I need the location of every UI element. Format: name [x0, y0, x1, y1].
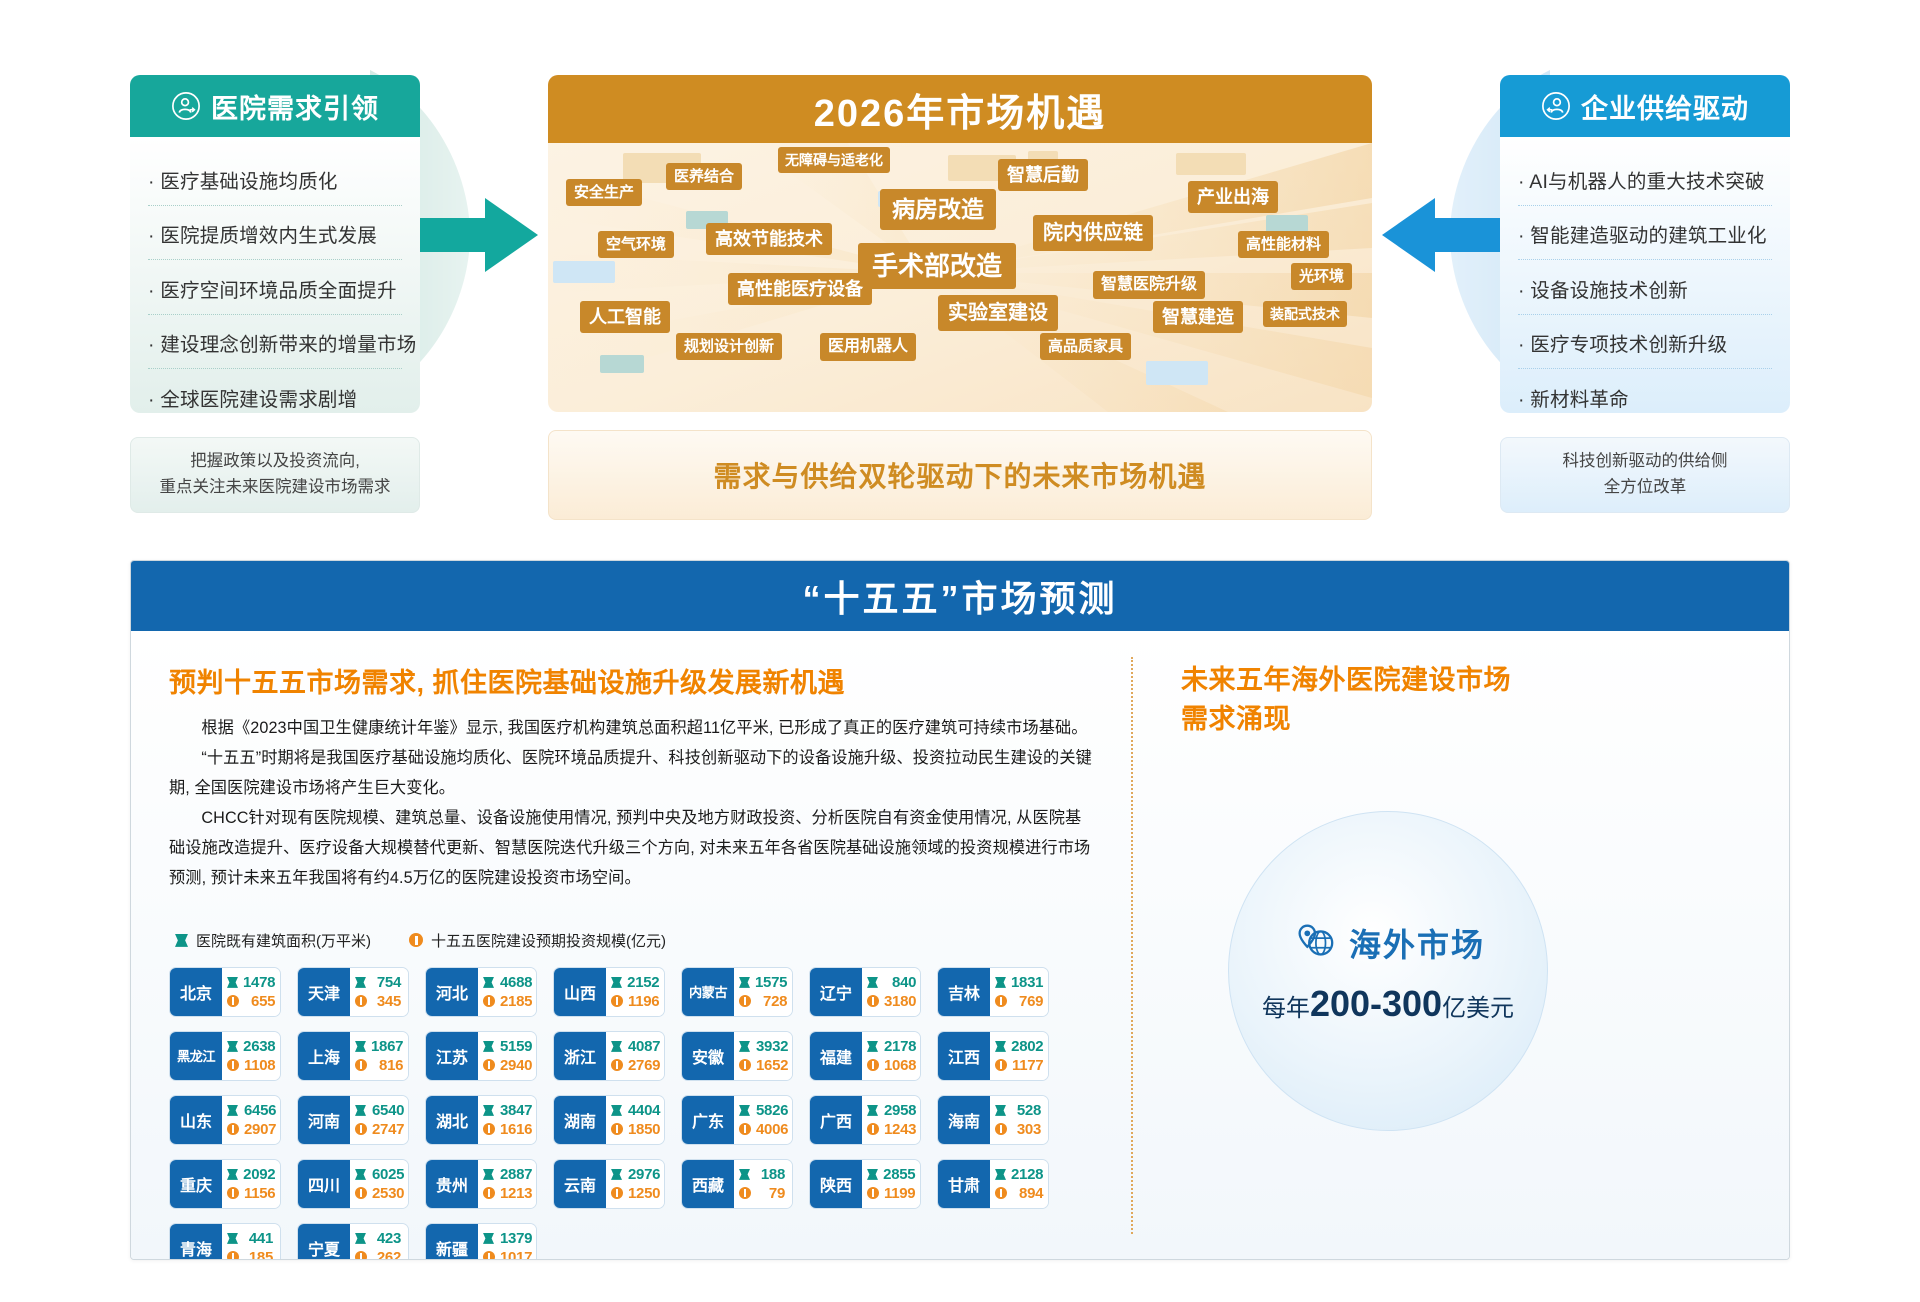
province-investment-value: 1177 [1012, 1057, 1043, 1074]
province-values: 2128894 [990, 1160, 1049, 1208]
forecast-left-column: 预判十五五市场需求, 抓住医院基础设施升级发展新机遇 根据《2023中国卫生健康… [131, 631, 1131, 1260]
province-investment-row: 894 [995, 1185, 1043, 1202]
square-marker-icon [739, 1169, 750, 1180]
province-investment-value: 1199 [884, 1185, 915, 1202]
circle-marker-icon [483, 995, 495, 1007]
province-investment-row: 303 [995, 1121, 1041, 1138]
province-investment-row: 1243 [867, 1121, 916, 1138]
circle-marker-icon [867, 1187, 879, 1199]
province-area-row: 441 [227, 1230, 273, 1247]
province-investment-row: 1196 [611, 993, 659, 1010]
enterprise-supply-card-header: 企业供给驱动 [1500, 75, 1790, 137]
province-investment-value: 262 [372, 1249, 401, 1260]
province-name: 北京 [170, 968, 222, 1016]
province-card[interactable]: 浙江40872769 [553, 1031, 665, 1081]
keyword-tag[interactable]: 高性能材料 [1238, 231, 1329, 258]
province-name: 海南 [938, 1096, 990, 1144]
demand-footnote-line2: 重点关注未来医院建设市场需求 [160, 475, 391, 501]
circle-marker-icon [867, 1123, 879, 1135]
circle-marker-icon [483, 1059, 495, 1071]
circle-marker-icon [227, 1059, 239, 1071]
province-values: 28021177 [990, 1032, 1049, 1080]
province-area-value: 5826 [755, 1102, 788, 1119]
forecast-section-heading: 预判十五五市场需求, 抓住医院基础设施升级发展新机遇 [169, 661, 1093, 700]
province-investment-value: 1652 [756, 1057, 788, 1074]
province-card[interactable]: 海南528303 [937, 1095, 1049, 1145]
province-values: 26381108 [222, 1032, 281, 1080]
circle-marker-icon [995, 1123, 1007, 1135]
province-card[interactable]: 陕西28551199 [809, 1159, 921, 1209]
province-area-value: 1867 [371, 1038, 403, 1055]
decorative-block [1176, 153, 1246, 175]
province-values: 60252530 [350, 1160, 409, 1208]
province-name: 湖北 [426, 1096, 478, 1144]
province-values: 46882185 [478, 968, 537, 1016]
circle-marker-icon [355, 995, 367, 1007]
province-card[interactable]: 江西28021177 [937, 1031, 1049, 1081]
province-area-row: 3847 [483, 1102, 532, 1119]
keyword-tag[interactable]: 人工智能 [580, 301, 670, 333]
province-name: 青海 [170, 1224, 222, 1260]
province-values: 29581243 [862, 1096, 921, 1144]
province-area-value: 3847 [499, 1102, 532, 1119]
province-area-row: 4087 [611, 1038, 660, 1055]
keyword-tag[interactable]: 手术部改造 [858, 243, 1016, 289]
province-name: 福建 [810, 1032, 862, 1080]
province-area-row: 2638 [227, 1038, 275, 1055]
circle-marker-icon [611, 1187, 623, 1199]
province-investment-value: 345 [372, 993, 401, 1010]
forecast-paragraph-3: CHCC针对现有医院规模、建筑总量、设备设施使用情况, 预判中央及地方财政投资、… [169, 804, 1093, 894]
market-opportunity-title: 2026年市场机遇 [548, 75, 1372, 143]
province-area-row: 188 [739, 1166, 785, 1183]
province-area-value: 188 [755, 1166, 785, 1183]
province-investment-value: 816 [372, 1057, 403, 1074]
province-investment-row: 79 [739, 1185, 785, 1202]
square-marker-icon [227, 1041, 238, 1052]
province-area-value: 441 [243, 1230, 273, 1247]
province-investment-value: 769 [1012, 993, 1043, 1010]
supply-item-3: · 设备设施技术创新 [1518, 259, 1772, 314]
province-area-row: 840 [867, 974, 916, 991]
keyword-tag[interactable]: 高效节能技术 [706, 223, 832, 255]
province-investment-row: 655 [227, 993, 275, 1010]
province-area-row: 528 [995, 1102, 1041, 1119]
province-name: 河南 [298, 1096, 350, 1144]
province-investment-row: 769 [995, 993, 1043, 1010]
market-opportunity-footer-text: 需求与供给双轮驱动下的未来市场机遇 [713, 455, 1206, 495]
province-values: 29761250 [606, 1160, 665, 1208]
province-card[interactable]: 甘肃2128894 [937, 1159, 1049, 1209]
demand-item-3: · 医疗空间环境品质全面提升 [148, 259, 402, 314]
province-values: 20921156 [222, 1160, 281, 1208]
square-marker-icon [483, 1041, 494, 1052]
supply-item-1: · AI与机器人的重大技术突破 [1518, 151, 1772, 205]
keyword-tag[interactable]: 高品质家具 [1040, 333, 1131, 360]
province-investment-value: 1108 [244, 1057, 275, 1074]
keyword-tag[interactable]: 安全生产 [566, 179, 642, 206]
province-name: 江苏 [426, 1032, 478, 1080]
province-name: 黑龙江 [170, 1032, 222, 1080]
keyword-tag[interactable]: 空气环境 [598, 231, 674, 258]
province-card[interactable]: 河北46882185 [425, 967, 537, 1017]
circle-marker-icon [739, 1123, 751, 1135]
province-card[interactable]: 新疆13791017 [425, 1223, 537, 1260]
province-card[interactable]: 宁夏423262 [297, 1223, 409, 1260]
circle-marker-icon [409, 933, 423, 947]
keyword-tag[interactable]: 医用机器人 [820, 333, 916, 361]
province-values: 58264006 [734, 1096, 793, 1144]
keyword-tag[interactable]: 病房改造 [880, 189, 996, 230]
province-card[interactable]: 四川60252530 [297, 1159, 409, 1209]
province-values: 1478655 [222, 968, 281, 1016]
square-marker-icon [995, 1041, 1006, 1052]
province-investment-row: 2907 [227, 1121, 276, 1138]
province-investment-value: 1017 [500, 1249, 532, 1260]
province-values: 1831769 [990, 968, 1049, 1016]
overseas-heading: 未来五年海外医院建设市场 需求涌现 [1181, 661, 1759, 739]
province-investment-row: 262 [355, 1249, 401, 1260]
user-demand-icon [171, 91, 201, 121]
province-card[interactable]: 重庆20921156 [169, 1159, 281, 1209]
overseas-market-amount: 每年200-300亿美元 [1262, 983, 1514, 1025]
province-area-row: 2887 [483, 1166, 532, 1183]
infographic-page: 医院需求引领 · 医疗基础设施均质化 · 医院提质增效内生式发展 · 医疗空间环… [0, 0, 1920, 1302]
overseas-amount-prefix: 每年 [1262, 995, 1310, 1022]
overseas-circle-wrap: 海外市场 每年200-300亿美元 [1173, 801, 1703, 1201]
square-marker-icon [227, 1169, 238, 1180]
keyword-tag[interactable]: 院内供应链 [1033, 215, 1153, 251]
province-investment-value: 185 [244, 1249, 273, 1260]
province-investment-value: 2747 [372, 1121, 404, 1138]
province-area-row: 2152 [611, 974, 659, 991]
province-investment-value: 1850 [628, 1121, 660, 1138]
circle-marker-icon [611, 1123, 623, 1135]
province-investment-value: 1196 [628, 993, 659, 1010]
province-investment-value: 3180 [884, 993, 916, 1010]
province-area-value: 2887 [499, 1166, 532, 1183]
square-marker-icon [995, 977, 1006, 988]
keyword-tag[interactable]: 装配式技术 [1263, 301, 1347, 327]
forecast-paragraph-1: 根据《2023中国卫生健康统计年鉴》显示, 我国医疗机构建筑总面积超11亿平米,… [169, 714, 1093, 744]
province-investment-value: 1156 [244, 1185, 275, 1202]
province-name: 云南 [554, 1160, 606, 1208]
province-area-row: 6025 [355, 1166, 404, 1183]
keyword-tag[interactable]: 实验室建设 [938, 295, 1058, 331]
province-name: 浙江 [554, 1032, 606, 1080]
province-card[interactable]: 福建21781068 [809, 1031, 921, 1081]
province-card[interactable]: 安徽39321652 [681, 1031, 793, 1081]
circle-marker-icon [995, 995, 1007, 1007]
province-area-value: 2178 [883, 1038, 916, 1055]
province-name: 广东 [682, 1096, 734, 1144]
province-investment-row: 1652 [739, 1057, 788, 1074]
square-marker-icon [227, 977, 238, 988]
supply-item-4: · 医疗专项技术创新升级 [1518, 314, 1772, 369]
province-card[interactable]: 北京1478655 [169, 967, 281, 1017]
province-investment-row: 816 [355, 1057, 403, 1074]
province-card[interactable]: 青海441185 [169, 1223, 281, 1260]
province-investment-row: 728 [739, 993, 787, 1010]
circle-marker-icon [355, 1059, 367, 1071]
hospital-demand-card: 医院需求引领 · 医疗基础设施均质化 · 医院提质增效内生式发展 · 医疗空间环… [130, 75, 420, 413]
province-area-value: 4688 [499, 974, 532, 991]
overseas-amount-value: 200-300 [1310, 983, 1442, 1024]
circle-marker-icon [995, 1187, 1007, 1199]
province-area-row: 3932 [739, 1038, 788, 1055]
circle-marker-icon [227, 1123, 239, 1135]
forecast-paragraph-2: “十五五”时期将是我国医疗基础设施均质化、医院环境品质提升、科技创新驱动下的设备… [169, 744, 1093, 804]
province-area-row: 423 [355, 1230, 401, 1247]
square-marker-icon [483, 1169, 494, 1180]
province-card[interactable]: 贵州28871213 [425, 1159, 537, 1209]
province-investment-row: 1213 [483, 1185, 532, 1202]
province-card[interactable]: 湖北38471616 [425, 1095, 537, 1145]
enterprise-supply-card: 企业供给驱动 · AI与机器人的重大技术突破 · 智能建造驱动的建筑工业化 · … [1500, 75, 1790, 413]
province-investment-value: 655 [244, 993, 275, 1010]
circle-marker-icon [227, 1251, 239, 1260]
square-marker-icon [175, 934, 188, 947]
province-area-row: 754 [355, 974, 401, 991]
circle-marker-icon [483, 1251, 495, 1260]
keyword-tag[interactable]: 医养结合 [666, 163, 742, 190]
circle-marker-icon [355, 1187, 367, 1199]
province-investment-row: 1250 [611, 1185, 660, 1202]
province-area-row: 5159 [483, 1038, 532, 1055]
province-area-row: 5826 [739, 1102, 788, 1119]
province-values: 44041850 [606, 1096, 665, 1144]
province-investment-row: 1017 [483, 1249, 532, 1260]
top-section: 医院需求引领 · 医疗基础设施均质化 · 医院提质增效内生式发展 · 医疗空间环… [0, 0, 1920, 535]
province-investment-value: 1243 [884, 1121, 916, 1138]
square-marker-icon [611, 977, 622, 988]
province-card[interactable]: 河南65402747 [297, 1095, 409, 1145]
province-name: 宁夏 [298, 1224, 350, 1260]
square-marker-icon [611, 1041, 622, 1052]
forecast-right-column: 未来五年海外医院建设市场 需求涌现 [1133, 631, 1789, 1260]
legend-label-investment: 十五五医院建设预期投资规模(亿元) [431, 930, 666, 951]
province-investment-value: 4006 [756, 1121, 788, 1138]
keyword-tag[interactable]: 高性能医疗设备 [728, 273, 872, 305]
decorative-block [600, 355, 644, 373]
province-values: 28871213 [478, 1160, 537, 1208]
province-card[interactable]: 湖南44041850 [553, 1095, 665, 1145]
circle-marker-icon [867, 1059, 879, 1071]
province-values: 51592940 [478, 1032, 537, 1080]
square-marker-icon [483, 1105, 494, 1116]
province-name: 重庆 [170, 1160, 222, 1208]
province-investment-row: 1177 [995, 1057, 1043, 1074]
province-area-row: 4404 [611, 1102, 660, 1119]
province-investment-row: 1156 [227, 1185, 275, 1202]
legend-label-area: 医院既有建筑面积(万平米) [196, 930, 371, 951]
province-card[interactable]: 广西29581243 [809, 1095, 921, 1145]
province-investment-row: 1850 [611, 1121, 660, 1138]
province-area-value: 528 [1011, 1102, 1041, 1119]
legend-item-investment: 十五五医院建设预期投资规模(亿元) [409, 930, 666, 951]
province-area-row: 2178 [867, 1038, 916, 1055]
province-area-value: 6540 [371, 1102, 404, 1119]
square-marker-icon [611, 1169, 622, 1180]
province-name: 上海 [298, 1032, 350, 1080]
overseas-market-circle: 海外市场 每年200-300亿美元 [1228, 811, 1548, 1131]
province-investment-value: 2185 [500, 993, 532, 1010]
province-name: 甘肃 [938, 1160, 990, 1208]
square-marker-icon [739, 977, 750, 988]
province-area-row: 4688 [483, 974, 532, 991]
supply-footnote-line1: 科技创新驱动的供给侧 [1563, 449, 1728, 475]
province-area-value: 6025 [371, 1166, 404, 1183]
province-area-value: 4404 [627, 1102, 660, 1119]
circle-marker-icon [483, 1123, 495, 1135]
province-values: 18879 [734, 1160, 792, 1208]
province-area-value: 1831 [1011, 974, 1043, 991]
square-marker-icon [867, 1105, 878, 1116]
province-investment-value: 2769 [628, 1057, 660, 1074]
market-opportunity-panel: 2026年市场机遇 [548, 75, 1372, 412]
overseas-market-label: 海外市场 [1349, 920, 1485, 966]
province-card[interactable]: 上海1867816 [297, 1031, 409, 1081]
square-marker-icon [867, 977, 878, 988]
province-name: 新疆 [426, 1224, 478, 1260]
market-forecast-section: “十五五”市场预测 预判十五五市场需求, 抓住医院基础设施升级发展新机遇 根据《… [130, 560, 1790, 1260]
keyword-tag[interactable]: 产业出海 [1188, 181, 1278, 213]
market-forecast-body: 预判十五五市场需求, 抓住医院基础设施升级发展新机遇 根据《2023中国卫生健康… [131, 631, 1789, 1260]
province-values: 40872769 [606, 1032, 665, 1080]
province-card[interactable]: 天津754345 [297, 967, 409, 1017]
province-card[interactable]: 广东58264006 [681, 1095, 793, 1145]
province-area-value: 2958 [883, 1102, 916, 1119]
enterprise-supply-card-body: · AI与机器人的重大技术突破 · 智能建造驱动的建筑工业化 · 设备设施技术创… [1500, 137, 1790, 413]
province-name: 山东 [170, 1096, 222, 1144]
circle-marker-icon [739, 1059, 751, 1071]
province-area-row: 1831 [995, 974, 1043, 991]
province-area-value: 4087 [627, 1038, 660, 1055]
province-area-value: 3932 [755, 1038, 788, 1055]
province-investment-row: 2530 [355, 1185, 404, 1202]
decorative-block [1146, 361, 1208, 385]
province-investment-row: 2940 [483, 1057, 532, 1074]
province-investment-value: 2907 [244, 1121, 276, 1138]
circle-marker-icon [611, 1059, 623, 1071]
province-investment-row: 1199 [867, 1185, 915, 1202]
square-marker-icon [355, 1233, 366, 1244]
province-area-value: 1575 [755, 974, 787, 991]
square-marker-icon [995, 1105, 1006, 1116]
demand-item-1: · 医疗基础设施均质化 [148, 151, 402, 205]
province-name: 内蒙古 [682, 968, 734, 1016]
province-area-value: 1478 [243, 974, 275, 991]
province-values: 1867816 [350, 1032, 409, 1080]
keyword-tag[interactable]: 规划设计创新 [676, 333, 782, 360]
square-marker-icon [227, 1233, 238, 1244]
hospital-demand-card-title: 医院需求引领 [211, 87, 379, 126]
keyword-tag[interactable]: 智慧建造 [1153, 301, 1243, 333]
circle-marker-icon [355, 1123, 367, 1135]
overseas-heading-line1: 未来五年海外医院建设市场 [1181, 661, 1759, 700]
province-area-value: 1379 [499, 1230, 532, 1247]
province-values: 21781068 [862, 1032, 921, 1080]
province-card[interactable]: 黑龙江26381108 [169, 1031, 281, 1081]
province-investment-row: 185 [227, 1249, 273, 1260]
keyword-tag[interactable]: 光环境 [1291, 263, 1352, 290]
square-marker-icon [739, 1105, 750, 1116]
province-card[interactable]: 西藏18879 [681, 1159, 793, 1209]
circle-marker-icon [483, 1187, 495, 1199]
province-investment-value: 1213 [500, 1185, 532, 1202]
square-marker-icon [355, 1105, 366, 1116]
province-card[interactable]: 云南29761250 [553, 1159, 665, 1209]
province-values: 13791017 [478, 1224, 537, 1260]
province-card[interactable]: 吉林1831769 [937, 967, 1049, 1017]
province-area-value: 840 [883, 974, 916, 991]
circle-marker-icon [867, 995, 879, 1007]
province-area-row: 1478 [227, 974, 275, 991]
circle-marker-icon [739, 1187, 751, 1199]
keyword-tag[interactable]: 无障碍与适老化 [778, 147, 890, 173]
hospital-demand-card-body: · 医疗基础设施均质化 · 医院提质增效内生式发展 · 医疗空间环境品质全面提升… [130, 137, 420, 413]
market-opportunity-footer: 需求与供给双轮驱动下的未来市场机遇 [548, 430, 1372, 520]
province-area-value: 2976 [627, 1166, 660, 1183]
province-values: 38471616 [478, 1096, 537, 1144]
province-investment-row: 4006 [739, 1121, 788, 1138]
province-values: 8403180 [862, 968, 921, 1016]
province-area-row: 2976 [611, 1166, 660, 1183]
province-name: 湖南 [554, 1096, 606, 1144]
demand-footnote: 把握政策以及投资流向, 重点关注未来医院建设市场需求 [130, 437, 420, 513]
province-card[interactable]: 辽宁8403180 [809, 967, 921, 1017]
province-area-row: 2802 [995, 1038, 1043, 1055]
province-area-value: 2802 [1011, 1038, 1043, 1055]
province-area-value: 6456 [243, 1102, 276, 1119]
province-values: 1575728 [734, 968, 793, 1016]
supply-footnote-line2: 全方位改革 [1604, 475, 1687, 501]
province-area-value: 754 [371, 974, 401, 991]
province-investment-row: 2747 [355, 1121, 404, 1138]
province-area-value: 2638 [243, 1038, 275, 1055]
circle-marker-icon [227, 1187, 239, 1199]
province-values: 39321652 [734, 1032, 793, 1080]
province-investment-row: 2769 [611, 1057, 660, 1074]
province-name: 吉林 [938, 968, 990, 1016]
keyword-tag[interactable]: 智慧医院升级 [1093, 271, 1205, 299]
province-card[interactable]: 山西21521196 [553, 967, 665, 1017]
province-investment-value: 728 [756, 993, 787, 1010]
province-investment-value: 1250 [628, 1185, 660, 1202]
square-marker-icon [355, 977, 366, 988]
province-area-row: 2092 [227, 1166, 275, 1183]
keyword-tag[interactable]: 智慧后勤 [998, 159, 1088, 191]
square-marker-icon [227, 1105, 238, 1116]
province-name: 辽宁 [810, 968, 862, 1016]
province-investment-row: 345 [355, 993, 401, 1010]
province-card[interactable]: 山东64562907 [169, 1095, 281, 1145]
province-area-row: 2855 [867, 1166, 915, 1183]
circle-marker-icon [611, 995, 623, 1007]
square-marker-icon [739, 1041, 750, 1052]
demand-footnote-line1: 把握政策以及投资流向, [190, 449, 360, 475]
province-card[interactable]: 内蒙古1575728 [681, 967, 793, 1017]
province-card[interactable]: 江苏51592940 [425, 1031, 537, 1081]
circle-marker-icon [995, 1059, 1007, 1071]
square-marker-icon [483, 977, 494, 988]
province-area-row: 1379 [483, 1230, 532, 1247]
circle-marker-icon [739, 995, 751, 1007]
demand-item-4: · 建设理念创新带来的增量市场 [148, 314, 402, 369]
province-investment-row: 1108 [227, 1057, 275, 1074]
province-investment-row: 2185 [483, 993, 532, 1010]
square-marker-icon [611, 1105, 622, 1116]
